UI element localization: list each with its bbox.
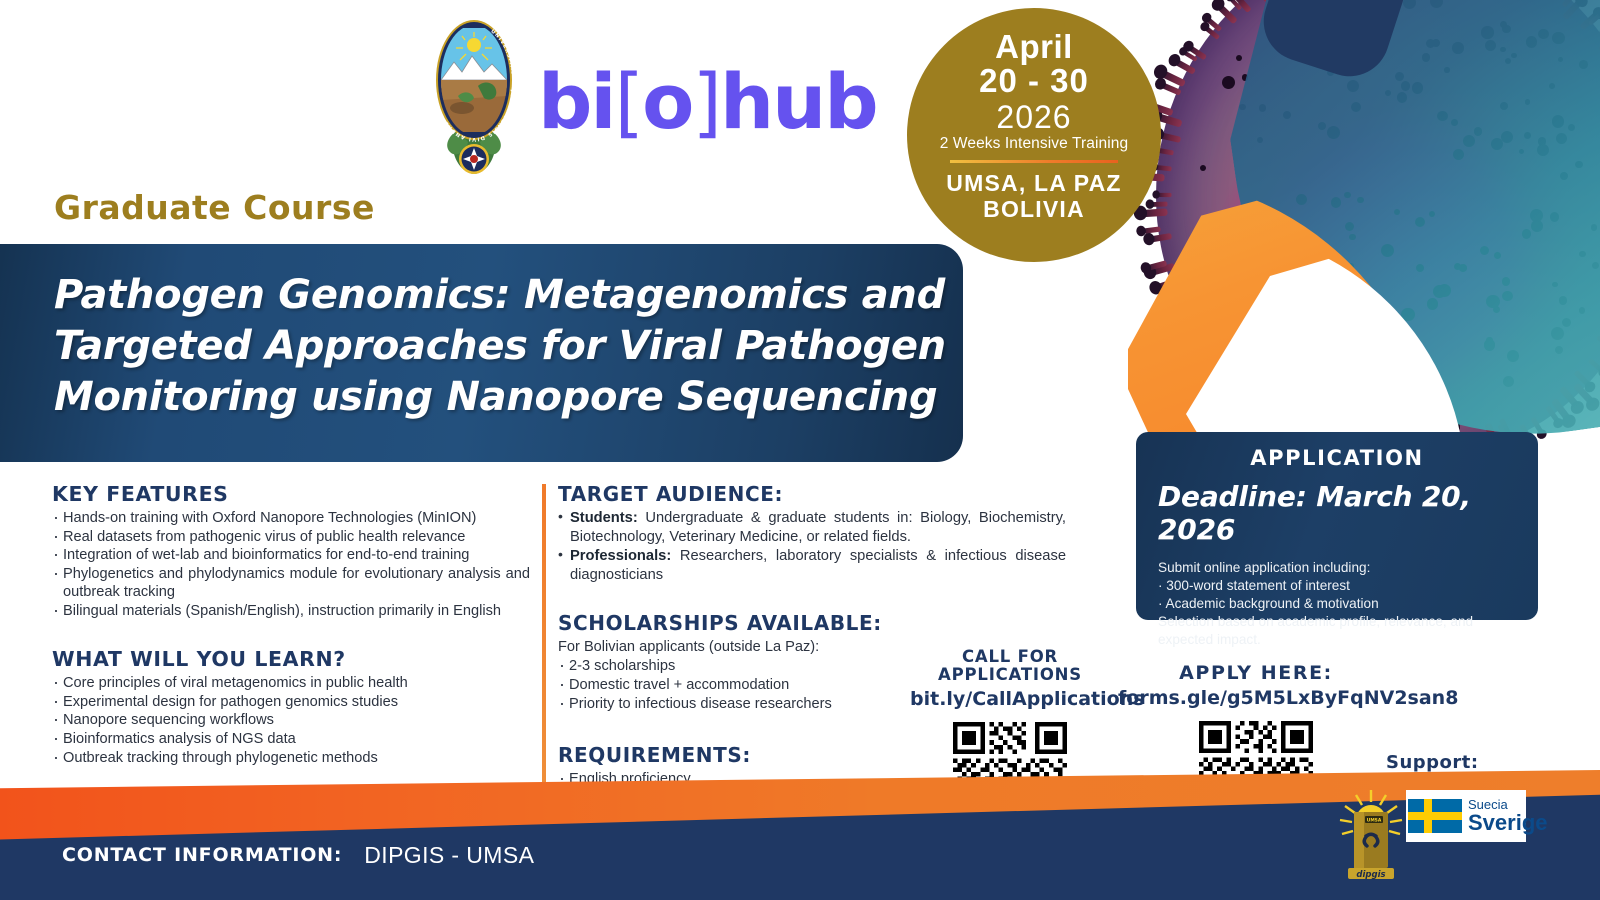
key-features-heading: KEY FEATURES (52, 482, 530, 506)
virus-illustration (1128, 0, 1600, 456)
spacer (52, 621, 530, 647)
list-item: Real datasets from pathogenic virus of p… (52, 528, 530, 546)
contact-label: CONTACT INFORMATION: (62, 844, 342, 866)
call-for-applications-heading-line1: CALL FOR (910, 648, 1110, 666)
list-item: Core principles of viral metagenomics in… (52, 674, 530, 692)
application-bullet-2: · Academic background & motivation (1158, 595, 1516, 613)
application-submit-intro: Submit online application including: (1158, 559, 1516, 577)
date-location-badge: April 20 - 30 2026 2 Weeks Intensive Tra… (907, 8, 1161, 262)
event-duration: 2 Weeks Intensive Training (907, 135, 1161, 154)
biohub-bracket-open: [ (614, 57, 642, 146)
audience-label-professionals: Professionals: (570, 548, 671, 564)
virus-surface-dot (1236, 55, 1242, 61)
call-for-applications-link[interactable]: bit.ly/CallApplications (910, 688, 1110, 710)
apply-here-link[interactable]: forms.gle/g5M5LxByFqNV2san8 (1118, 687, 1394, 709)
biohub-text-bi: bi (538, 57, 614, 146)
event-city: UMSA, LA PAZ (907, 170, 1161, 196)
apply-here-heading: APPLY HERE: (1118, 663, 1394, 684)
list-item: Outbreak tracking through phylogenetic m… (52, 749, 530, 767)
spacer (558, 585, 1066, 611)
list-item: Experimental design for pathogen genomic… (52, 693, 530, 711)
audience-text-students: Undergraduate & graduate students in: Bi… (570, 510, 1066, 545)
contact-information-bar: CONTACT INFORMATION: DIPGIS - UMSA (0, 810, 1600, 900)
biohub-logo: bi[o]hub (538, 64, 877, 140)
virus-spike (1149, 233, 1172, 243)
virus-surface-dot (1222, 76, 1235, 89)
course-title-banner: Pathogen Genomics: Metagenomics and Targ… (0, 244, 963, 462)
biohub-bracket-close: ] (692, 57, 720, 146)
audience-label-students: Students: (570, 510, 638, 526)
virus-spike (1173, 59, 1196, 75)
call-for-applications-heading-line2: APPLICATIONS (910, 666, 1110, 684)
application-heading: APPLICATION (1158, 446, 1516, 470)
left-content-column: KEY FEATURES Hands-on training with Oxfo… (52, 482, 530, 768)
course-kicker: Graduate Course (54, 188, 375, 227)
application-selection-note: Selection based on academic profile, rel… (1158, 613, 1516, 649)
virus-surface-dot (1200, 165, 1206, 171)
application-panel: APPLICATION Deadline: March 20, 2026 Sub… (1136, 432, 1538, 620)
biohub-text-hub: hub (720, 57, 877, 146)
target-audience-list: Students: Undergraduate & graduate stude… (558, 509, 1066, 584)
list-item: Hands-on training with Oxford Nanopore T… (52, 509, 530, 527)
scholarships-heading: SCHOLARSHIPS AVAILABLE: (558, 611, 1066, 635)
event-country: BOLIVIA (907, 196, 1161, 222)
badge-divider (950, 160, 1118, 163)
application-details: Submit online application including: · 3… (1158, 559, 1516, 649)
page-title-line-3: Monitoring using Nanopore Sequencing (54, 372, 923, 423)
application-bullet-1: · 300-word statement of interest (1158, 577, 1516, 595)
biohub-text-o: o (642, 57, 692, 146)
list-item: Phylogenetics and phylodynamics module f… (52, 565, 530, 601)
column-divider (542, 484, 546, 794)
umsa-crest-logo: UNIVERSITAS MAJOR PACENSIS DIVI ANDRE (428, 18, 520, 190)
target-audience-heading: TARGET AUDIENCE: (558, 482, 1066, 506)
virus-spike (1158, 132, 1181, 143)
event-year: 2026 (907, 99, 1161, 136)
key-features-list: Hands-on training with Oxford Nanopore T… (52, 509, 530, 620)
event-days: 20 - 30 (907, 64, 1161, 99)
list-item: Students: Undergraduate & graduate stude… (558, 509, 1066, 546)
support-label: Support: (1386, 752, 1479, 773)
page-title-line-2: Targeted Approaches for Viral Pathogen (54, 321, 923, 372)
list-item: Professionals: Researchers, laboratory s… (558, 547, 1066, 584)
application-deadline: Deadline: March 20, 2026 (1158, 480, 1516, 546)
learning-outcomes-list: Core principles of viral metagenomics in… (52, 674, 530, 767)
contact-value: DIPGIS - UMSA (364, 842, 534, 869)
list-item: Nanopore sequencing workflows (52, 711, 530, 729)
list-item: Bioinformatics analysis of NGS data (52, 730, 530, 748)
event-month: April (907, 30, 1161, 64)
poster-canvas: UNIVERSITAS MAJOR PACENSIS DIVI ANDRE bi… (0, 0, 1600, 900)
learning-outcomes-heading: WHAT WILL YOU LEARN? (52, 647, 530, 671)
page-title-line-1: Pathogen Genomics: Metagenomics and (54, 270, 923, 321)
list-item: Bilingual materials (Spanish/English), i… (52, 602, 530, 620)
list-item: Integration of wet-lab and bioinformatic… (52, 546, 530, 564)
